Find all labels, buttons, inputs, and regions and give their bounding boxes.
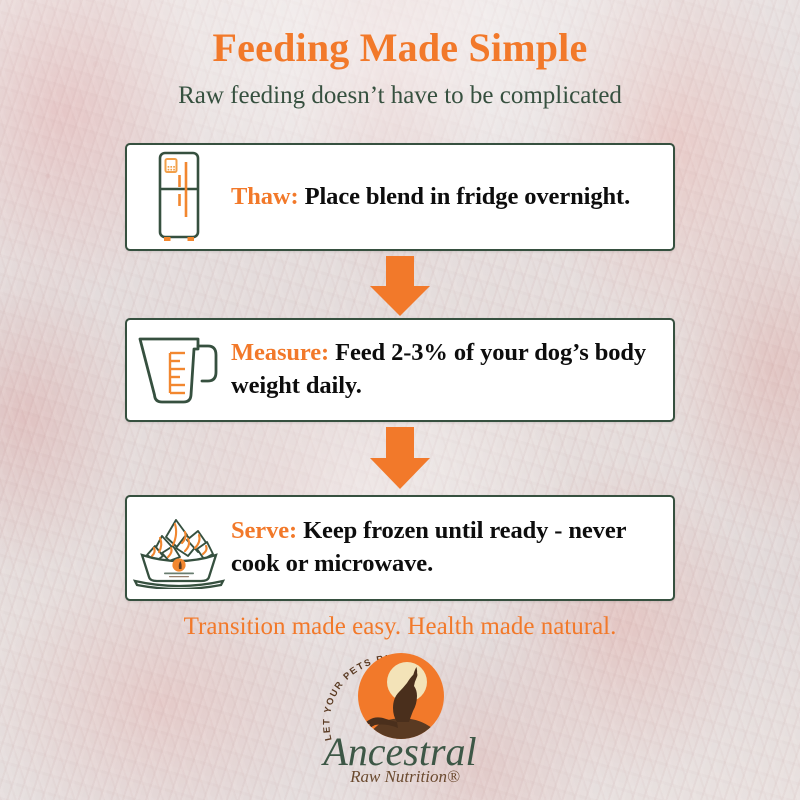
dog-bowl-icon <box>127 507 231 589</box>
step-body-thaw: Place blend in fridge overnight. <box>299 183 631 210</box>
measuring-cup-icon <box>127 333 231 407</box>
down-arrow-icon <box>368 256 432 318</box>
page-title: Feeding Made Simple <box>0 24 800 71</box>
logo-brand-sub: Raw Nutrition® <box>349 767 460 786</box>
step-text-thaw: Thaw: Place blend in fridge overnight. <box>231 181 673 214</box>
step-card-serve: Serve: Keep frozen until ready - never c… <box>125 495 675 601</box>
brand-logo: LET YOUR PETS RUN WILD Ancestral Raw Nut… <box>289 648 511 790</box>
howling-wolf-moon-icon <box>358 653 444 739</box>
step-label-serve: Serve: <box>231 517 297 544</box>
down-arrow-icon <box>368 427 432 491</box>
step-label-thaw: Thaw: <box>231 183 299 210</box>
poster: Feeding Made Simple Raw feeding doesn’t … <box>0 0 800 800</box>
page-subtitle: Raw feeding doesn’t have to be complicat… <box>0 82 800 110</box>
refrigerator-icon <box>127 151 231 243</box>
step-label-measure: Measure: <box>231 339 329 366</box>
footer-tagline: Transition made easy. Health made natura… <box>0 613 800 641</box>
step-text-measure: Measure: Feed 2-3% of your dog’s body we… <box>231 337 673 402</box>
step-card-measure: Measure: Feed 2-3% of your dog’s body we… <box>125 318 675 422</box>
step-card-thaw: Thaw: Place blend in fridge overnight. <box>125 143 675 251</box>
step-text-serve: Serve: Keep frozen until ready - never c… <box>231 515 673 580</box>
